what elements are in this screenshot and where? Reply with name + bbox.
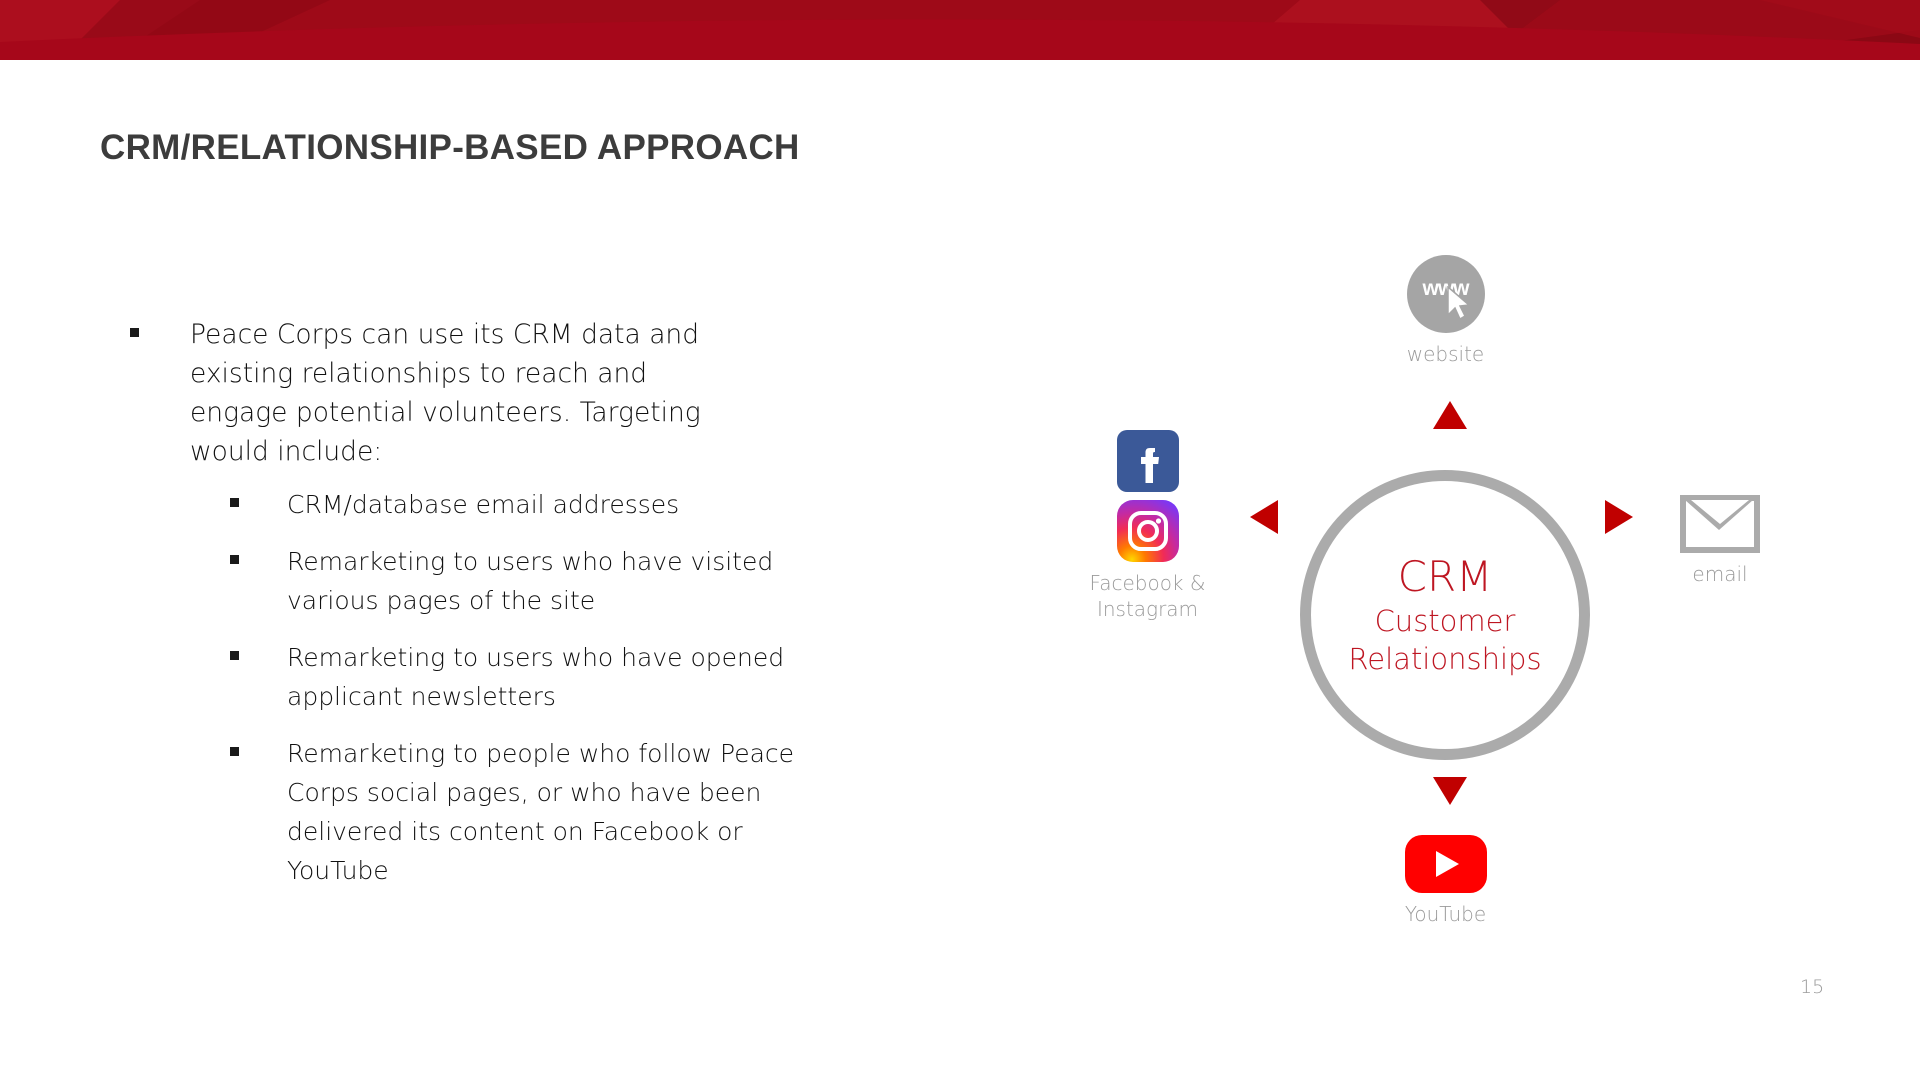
bullet-marker-icon	[230, 747, 239, 756]
node-email: email	[1640, 495, 1800, 587]
envelope-icon	[1680, 495, 1760, 553]
crm-center-circle: CRM Customer Relationships	[1300, 470, 1590, 760]
page-number: 15	[1800, 976, 1824, 998]
bullet-marker-icon	[230, 498, 239, 507]
crm-center-subtitle-line1: Customer	[1375, 602, 1516, 640]
node-social: Facebook & Instagram	[1060, 430, 1235, 622]
node-website: www website	[1373, 255, 1518, 367]
node-youtube-label: YouTube	[1373, 901, 1518, 927]
node-social-label-line2: Instagram	[1060, 596, 1235, 622]
list-item: CRM/database email addresses	[130, 485, 850, 524]
node-email-label: email	[1640, 561, 1800, 587]
node-website-label: website	[1373, 341, 1518, 367]
list-item: Peace Corps can use its CRM data and exi…	[130, 315, 850, 471]
crm-center-title: CRM	[1398, 552, 1493, 602]
list-item-text: Remarketing to users who have opened app…	[287, 638, 807, 716]
youtube-icon	[1405, 835, 1487, 893]
arrow-down-icon	[1433, 777, 1467, 805]
www-globe-icon: www	[1407, 255, 1485, 333]
banner-graphic	[0, 0, 1920, 60]
arrow-up-icon	[1433, 401, 1467, 429]
page-title: CRM/RELATIONSHIP-BASED APPROACH	[100, 128, 800, 168]
play-triangle-icon	[1436, 851, 1459, 877]
list-item: Remarketing to people who follow Peace C…	[130, 734, 850, 890]
facebook-f-glyph	[1117, 430, 1179, 492]
header-banner	[0, 0, 1920, 60]
bullet-marker-icon	[230, 651, 239, 660]
cursor-arrow-icon	[1446, 286, 1476, 324]
arrow-left-icon	[1250, 500, 1278, 534]
bullet-marker-icon	[130, 328, 139, 337]
node-youtube: YouTube	[1373, 835, 1518, 927]
node-social-label-line1: Facebook &	[1060, 570, 1235, 596]
arrow-right-icon	[1605, 500, 1633, 534]
list-item-text: Peace Corps can use its CRM data and exi…	[190, 315, 730, 471]
instagram-camera-glyph	[1117, 500, 1179, 562]
list-item-text: Remarketing to people who follow Peace C…	[287, 734, 807, 890]
list-item-text: CRM/database email addresses	[287, 485, 807, 524]
crm-hub-diagram: CRM Customer Relationships www website e…	[1040, 255, 1840, 995]
list-item: Remarketing to users who have opened app…	[130, 638, 850, 716]
list-item-text: Remarketing to users who have visited va…	[287, 542, 807, 620]
instagram-icon	[1117, 500, 1179, 562]
bullet-marker-icon	[230, 555, 239, 564]
list-item: Remarketing to users who have visited va…	[130, 542, 850, 620]
facebook-icon	[1117, 430, 1179, 492]
crm-center-subtitle-line2: Relationships	[1348, 640, 1541, 678]
bullet-list: Peace Corps can use its CRM data and exi…	[130, 315, 850, 908]
